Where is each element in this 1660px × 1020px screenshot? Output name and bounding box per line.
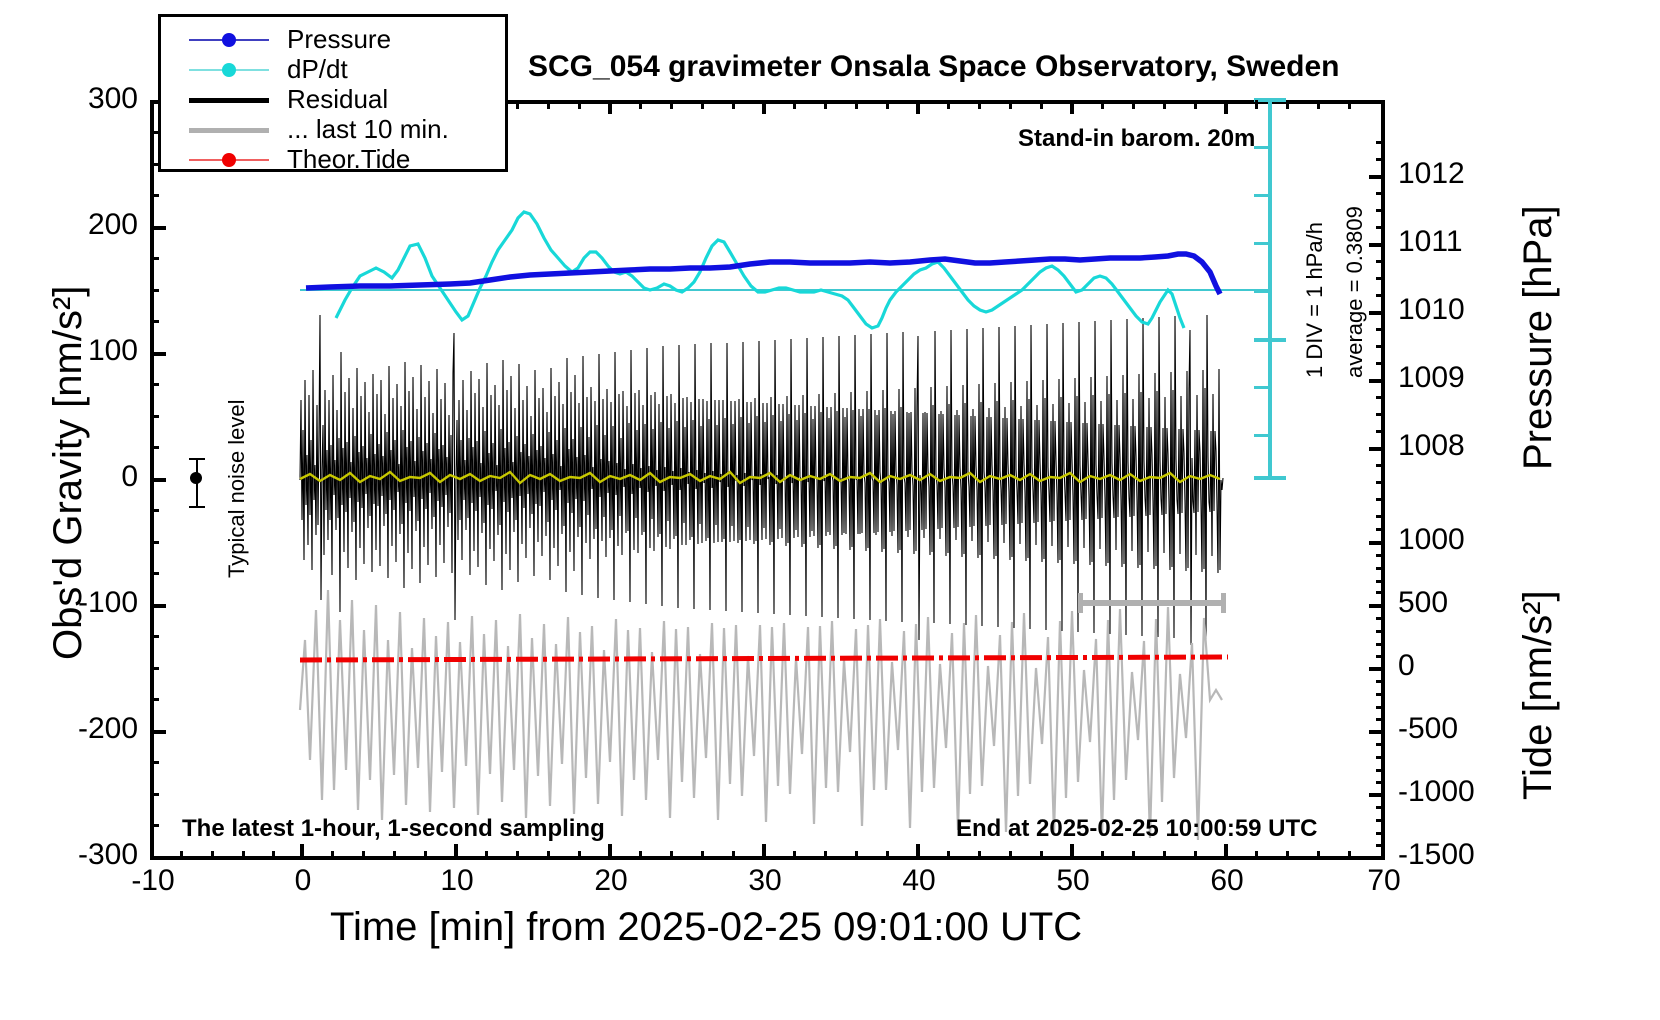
- right-tide-tick-500: 500: [1398, 588, 1448, 618]
- legend-swatch-residual: [189, 90, 269, 110]
- dpdt-reference-axis: [1268, 98, 1272, 480]
- legend-swatch-last10: [189, 120, 269, 140]
- plot-title: SCG_054 gravimeter Onsala Space Observat…: [528, 50, 1340, 84]
- legend: Pressure dP/dt Residual ... last 10 min.: [158, 14, 508, 172]
- last10-range-bar: [1078, 600, 1226, 606]
- legend-item-theortide[interactable]: Theor.Tide: [161, 145, 505, 174]
- right-tide-tick-0: 0: [1398, 651, 1415, 681]
- legend-label-dpdt: dP/dt: [287, 54, 348, 85]
- average-annotation: average = 0.3809: [1342, 206, 1368, 378]
- right-pressure-tick-1012: 1012: [1398, 159, 1465, 189]
- legend-item-residual[interactable]: Residual: [161, 85, 505, 114]
- y-axis-title: Obs'd Gravity [nm/s²]: [46, 286, 91, 660]
- legend-swatch-dpdt: [189, 60, 269, 80]
- legend-swatch-pressure: [189, 30, 269, 50]
- end-time-annotation: End at 2025-02-25 10:00:59 UTC: [956, 815, 1318, 843]
- legend-label-last10: ... last 10 min.: [287, 114, 449, 145]
- legend-item-pressure[interactable]: Pressure: [161, 25, 505, 54]
- x-tick-neg10: -10: [110, 866, 196, 896]
- theor-tide-series: [300, 657, 1228, 660]
- legend-label-residual: Residual: [287, 84, 388, 115]
- right-pressure-tick-1008: 1008: [1398, 431, 1465, 461]
- legend-label-pressure: Pressure: [287, 24, 391, 55]
- noise-level-dot: [190, 472, 202, 484]
- right-tide-tick-1000: 1000: [1398, 525, 1465, 555]
- x-tick-30: 30: [722, 866, 808, 896]
- left-tick-200: 200: [20, 210, 138, 240]
- x-tick-40: 40: [876, 866, 962, 896]
- left-tick-neg200: -200: [20, 714, 138, 744]
- last10-series: [300, 590, 1222, 840]
- right-pressure-tick-1009: 1009: [1398, 363, 1465, 393]
- legend-item-last10[interactable]: ... last 10 min.: [161, 115, 505, 144]
- dpdt-series: [336, 212, 1184, 328]
- chart-canvas: Typical noise level 300 200 100 0 -10: [0, 0, 1660, 1020]
- x-tick-0: 0: [260, 866, 346, 896]
- sampling-annotation: The latest 1-hour, 1-second sampling: [182, 815, 605, 843]
- x-tick-10: 10: [414, 866, 500, 896]
- x-axis-title: Time [min] from 2025-02-25 09:01:00 UTC: [330, 905, 1082, 950]
- left-tick-300: 300: [20, 84, 138, 114]
- right-tide-axis-title: Tide [nm/s²]: [1516, 590, 1561, 800]
- legend-swatch-theortide: [189, 150, 269, 170]
- x-tick-60: 60: [1184, 866, 1270, 896]
- division-annotation: 1 DIV = 1 hPa/h: [1302, 222, 1328, 378]
- right-pressure-tick-1011: 1011: [1398, 227, 1463, 257]
- legend-item-dpdt[interactable]: dP/dt: [161, 55, 505, 84]
- legend-label-theortide: Theor.Tide: [287, 144, 410, 175]
- right-tide-tick-neg500: -500: [1398, 714, 1458, 744]
- right-pressure-tick-1010: 1010: [1398, 295, 1465, 325]
- x-tick-50: 50: [1030, 866, 1116, 896]
- right-tide-tick-neg1500: -1500: [1398, 840, 1475, 870]
- noise-level-label: Typical noise level: [224, 399, 250, 578]
- barometer-annotation: Stand-in barom. 20m: [1018, 125, 1255, 153]
- x-tick-20: 20: [568, 866, 654, 896]
- right-tide-tick-neg1000: -1000: [1398, 777, 1475, 807]
- right-pressure-axis-title: Pressure [hPa]: [1516, 205, 1561, 470]
